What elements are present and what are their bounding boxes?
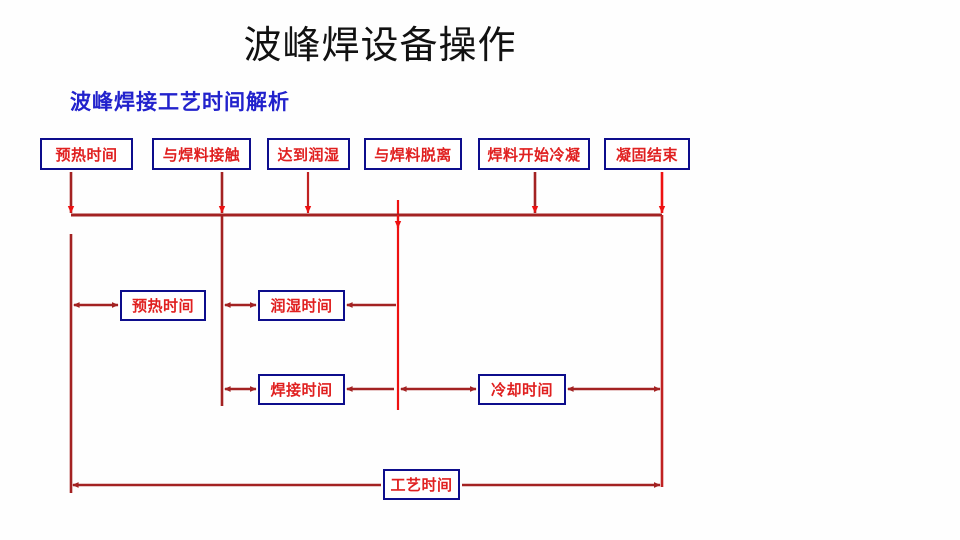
event-label: 与焊料脱离	[374, 144, 452, 165]
duration-box-wetting-time[interactable]: 润湿时间	[258, 290, 345, 321]
page-title: 波峰焊设备操作	[0, 14, 760, 69]
duration-label: 预热时间	[132, 295, 194, 316]
event-label: 与焊料接触	[163, 144, 241, 165]
event-label: 预热时间	[55, 144, 117, 165]
event-box-solder-contact[interactable]: 与焊料接触	[152, 138, 251, 170]
event-label: 焊料开始冷凝	[487, 144, 580, 165]
vertical-guide-lines	[71, 215, 662, 493]
event-box-solidification-end[interactable]: 凝固结束	[604, 138, 690, 170]
duration-box-soldering-time[interactable]: 焊接时间	[258, 374, 345, 405]
event-box-wetting-reached[interactable]: 达到润湿	[267, 138, 350, 170]
event-box-preheat[interactable]: 预热时间	[40, 138, 133, 170]
duration-box-cooling-time[interactable]: 冷却时间	[478, 374, 566, 405]
event-box-solder-begins-condensing[interactable]: 焊料开始冷凝	[478, 138, 590, 170]
event-label: 达到润湿	[277, 144, 339, 165]
event-box-solder-separation[interactable]: 与焊料脱离	[364, 138, 462, 170]
duration-label: 工艺时间	[390, 474, 452, 495]
slide-canvas: 波峰焊设备操作 波峰焊接工艺时间解析	[0, 0, 960, 540]
duration-label: 冷却时间	[491, 379, 553, 400]
event-drop-arrows	[71, 172, 662, 228]
section-subtitle: 波峰焊接工艺时间解析	[70, 86, 290, 116]
event-label: 凝固结束	[616, 144, 678, 165]
duration-label: 润湿时间	[270, 295, 332, 316]
duration-box-preheat-time[interactable]: 预热时间	[120, 290, 206, 321]
duration-label: 焊接时间	[270, 379, 332, 400]
diagram-wires	[0, 0, 960, 540]
duration-box-process-time[interactable]: 工艺时间	[383, 469, 460, 500]
duration-span-arrows	[73, 305, 660, 485]
